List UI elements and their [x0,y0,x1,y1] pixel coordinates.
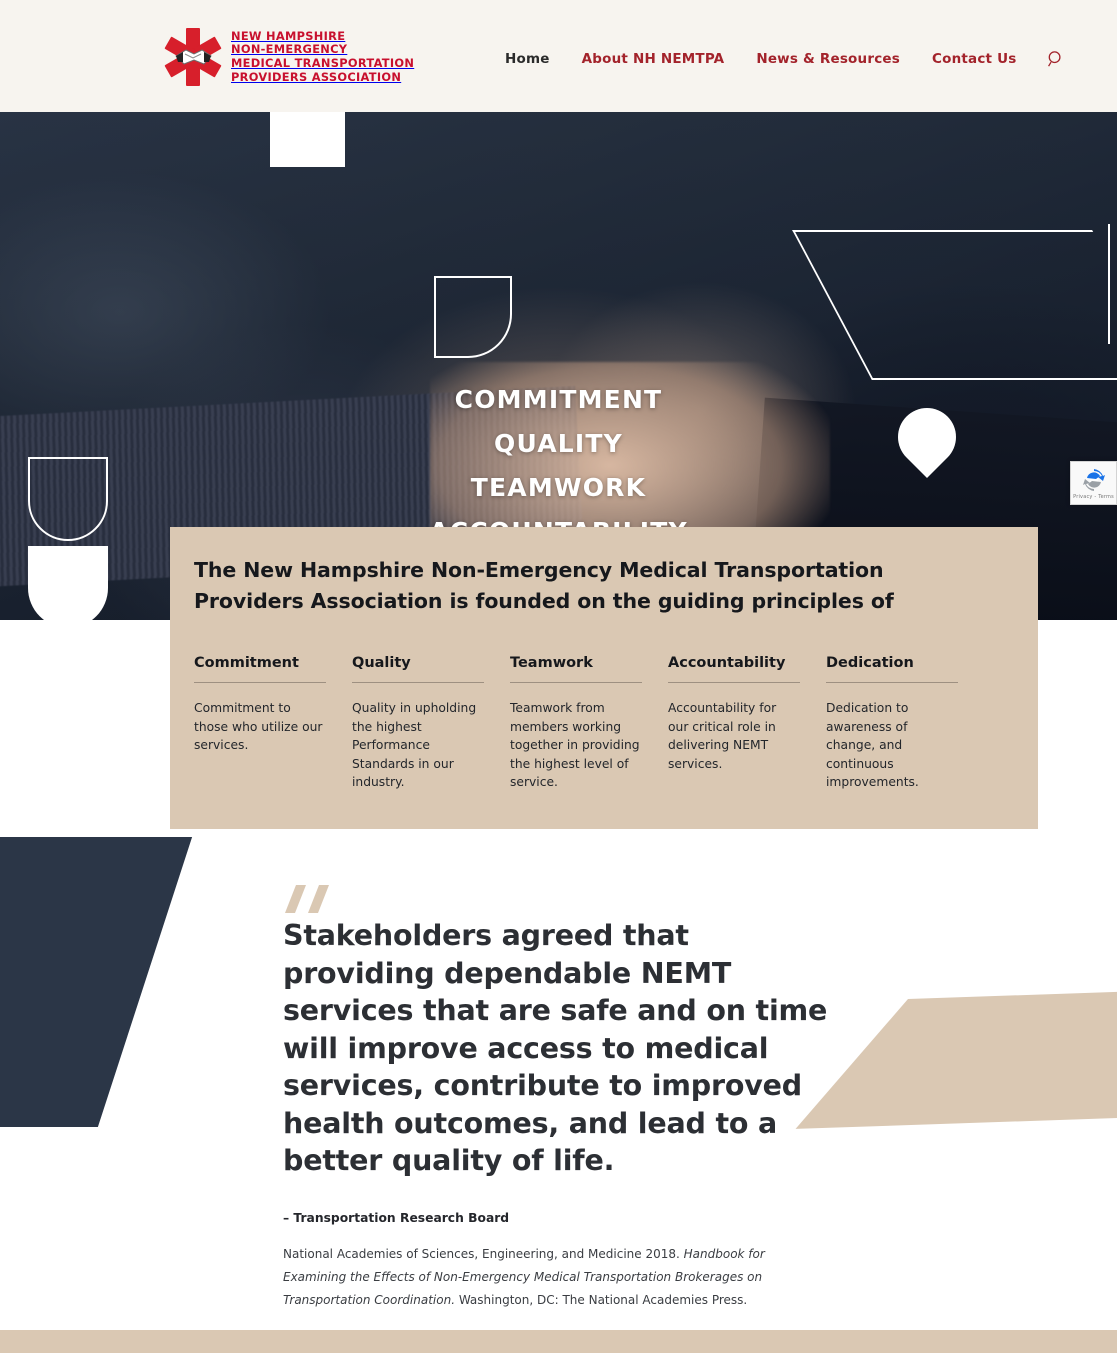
logo-text: NEW HAMPSHIRE NON-EMERGENCY MEDICAL TRAN… [231,30,414,84]
principle-divider [194,682,326,683]
logo-line-1: NEW HAMPSHIRE [231,30,414,44]
search-icon[interactable] [1047,50,1065,68]
quote-section: Stakeholders agreed that providing depen… [0,829,1117,1353]
recaptcha-icon [1081,467,1107,493]
decor-tan-wedge [796,988,1117,1129]
hero-value-teamwork: TEAMWORK [0,466,1117,510]
quote-citation: National Academies of Sciences, Engineer… [283,1243,828,1312]
principle-title: Commitment [194,655,326,682]
principle-body: Accountability for our critical role in … [668,699,800,773]
site-logo[interactable]: NEW HAMPSHIRE NON-EMERGENCY MEDICAL TRAN… [164,26,414,88]
quote-block: Stakeholders agreed that providing depen… [283,885,843,1312]
nav-item-home[interactable]: Home [505,51,566,67]
principle-title: Teamwork [510,655,642,682]
decor-navy-wedge [0,837,192,1127]
principle-divider [826,682,958,683]
recaptcha-privacy-label[interactable]: Privacy [1073,494,1093,500]
principles-grid: Commitment Commitment to those who utili… [194,655,1014,792]
principle-divider [352,682,484,683]
decor-parallelogram-edge [1108,224,1110,344]
recaptcha-privacy-terms[interactable]: Privacy - Terms [1073,494,1114,500]
nav-item-contact-us[interactable]: Contact Us [916,51,1033,67]
principle-column-quality: Quality Quality in upholding the highest… [352,655,510,792]
principle-divider [668,682,800,683]
decor-square-top [270,112,345,167]
principles-heading: The New Hampshire Non-Emergency Medical … [194,555,954,617]
logo-line-4: PROVIDERS ASSOCIATION [231,71,414,85]
main-navigation: Home About NH NEMTPA News & Resources Co… [505,50,1065,68]
site-header: NEW HAMPSHIRE NON-EMERGENCY MEDICAL TRAN… [0,0,1117,112]
logo-line-2: NON-EMERGENCY [231,43,414,57]
hero-value-quality: QUALITY [0,422,1117,466]
nav-item-news-resources[interactable]: News & Resources [740,51,916,67]
quote-attribution: – Transportation Research Board [283,1211,843,1225]
principle-title: Accountability [668,655,800,682]
recaptcha-badge[interactable]: Privacy - Terms [1070,461,1117,505]
principle-column-dedication: Dedication Dedication to awareness of ch… [826,655,984,792]
citation-part-1: National Academies of Sciences, Engineer… [283,1247,684,1261]
principle-divider [510,682,642,683]
principle-title: Quality [352,655,484,682]
recaptcha-terms-label[interactable]: Terms [1098,494,1114,500]
logo-line-3: MEDICAL TRANSPORTATION [231,57,414,71]
quote-text: Stakeholders agreed that providing depen… [283,917,843,1180]
hero-value-commitment: COMMITMENT [0,378,1117,422]
recaptcha-separator: - [1094,494,1096,500]
star-of-life-handshake-logo [164,26,222,88]
principle-body: Commitment to those who utilize our serv… [194,699,326,755]
nav-item-about[interactable]: About NH NEMTPA [566,51,741,67]
footer-accent-band [0,1330,1117,1353]
principle-body: Quality in upholding the highest Perform… [352,699,484,792]
principle-column-accountability: Accountability Accountability for our cr… [668,655,826,792]
principle-body: Teamwork from members working together i… [510,699,642,792]
principle-body: Dedication to awareness of change, and c… [826,699,958,792]
principle-column-commitment: Commitment Commitment to those who utili… [194,655,352,792]
quotation-mark-icon [283,898,333,917]
guiding-principles-card: The New Hampshire Non-Emergency Medical … [170,527,1038,829]
principle-column-teamwork: Teamwork Teamwork from members working t… [510,655,668,792]
principle-title: Dedication [826,655,958,682]
citation-part-2: Washington, DC: The National Academies P… [455,1293,747,1307]
